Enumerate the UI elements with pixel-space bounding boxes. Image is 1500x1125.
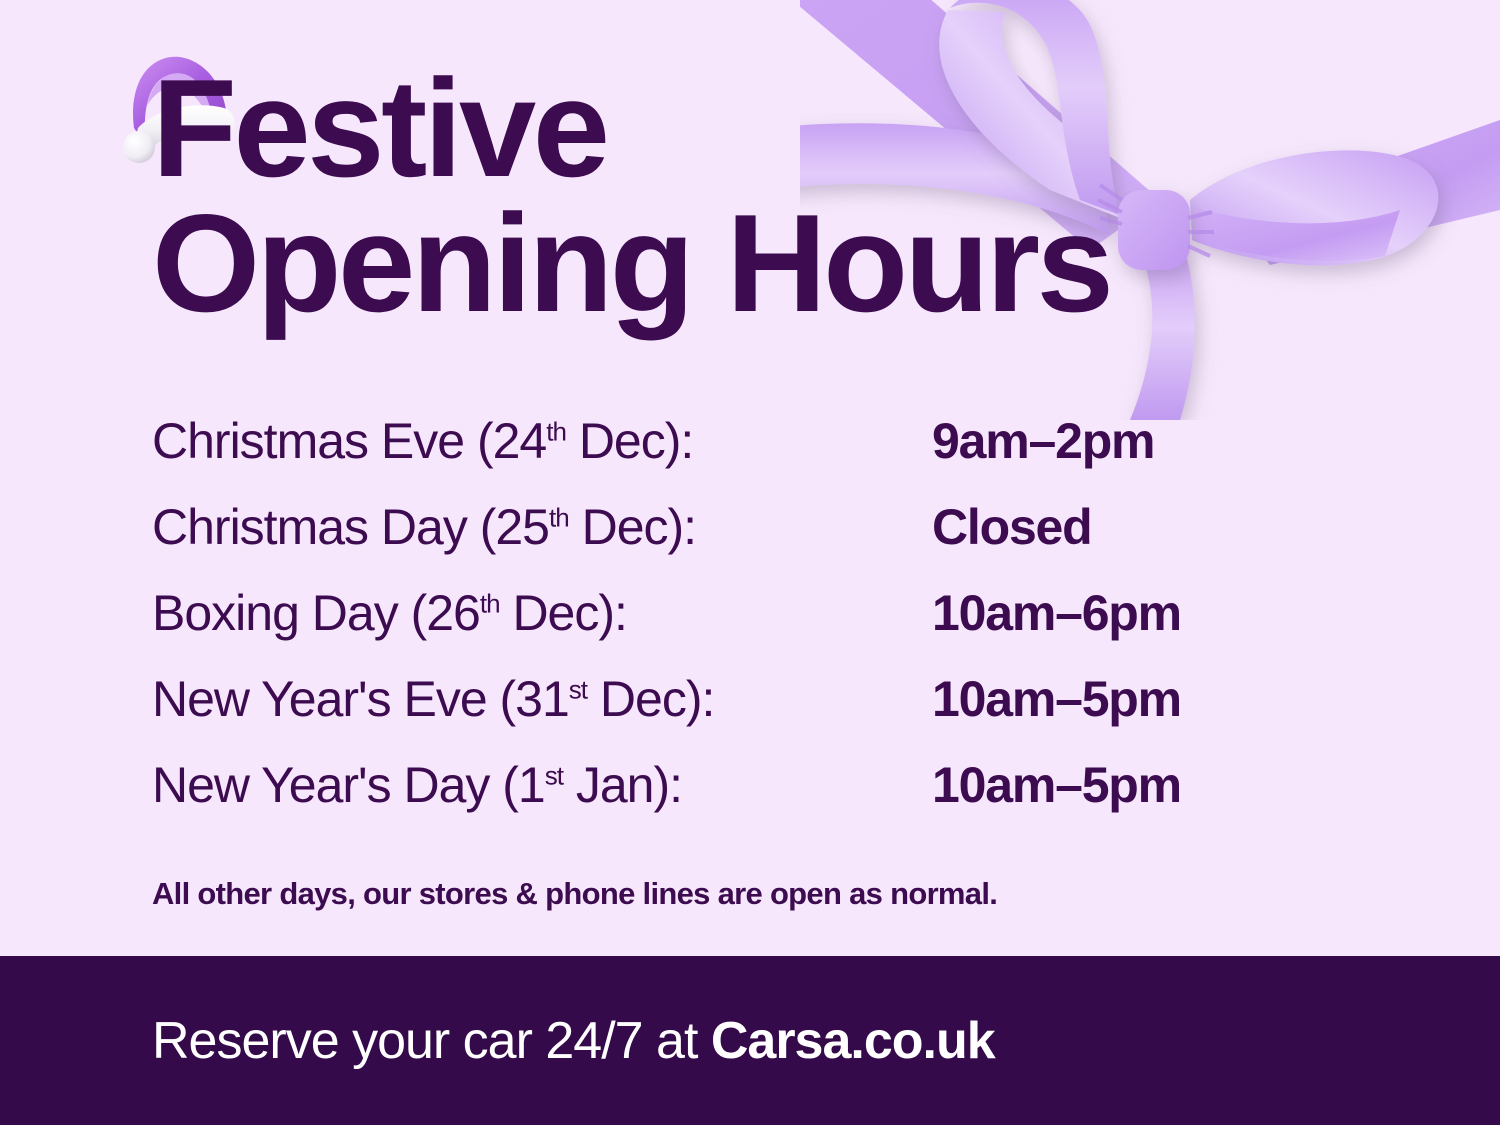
footnote-text: All other days, our stores & phone lines… [152,876,997,912]
footer-cta: Reserve your car 24/7 at Carsa.co.uk [152,1011,995,1071]
day-ordinal: st [569,674,587,704]
day-label: Boxing Day (26th Dec): [152,584,932,642]
hours-value: 10am–6pm [932,584,1282,642]
list-item: Christmas Eve (24th Dec): 9am–2pm [152,412,1282,498]
festive-opening-hours-poster: Festive Opening Hours Christmas Eve (24t… [0,0,1500,1125]
day-ordinal: th [549,502,569,532]
day-name: Christmas Day (25 [152,499,549,555]
list-item: New Year's Day (1st Jan): 10am–5pm [152,756,1282,842]
brand-name[interactable]: Carsa.co.uk [711,1012,995,1070]
day-month: Dec): [500,585,627,641]
day-name: New Year's Eve (31 [152,671,569,727]
day-label: Christmas Day (25th Dec): [152,498,932,556]
page-title: Festive Opening Hours [152,62,1282,332]
day-month: Jan): [563,757,682,813]
day-name: New Year's Day (1 [152,757,545,813]
hours-value: 10am–5pm [932,670,1282,728]
day-name: Boxing Day (26 [152,585,480,641]
hours-value: 9am–2pm [932,412,1282,470]
day-label: New Year's Eve (31st Dec): [152,670,932,728]
opening-hours-list: Christmas Eve (24th Dec): 9am–2pm Christ… [152,412,1282,842]
hours-value: Closed [932,498,1282,556]
list-item: Christmas Day (25th Dec): Closed [152,498,1282,584]
title-line-1: Festive [152,62,1282,197]
hours-value: 10am–5pm [932,756,1282,814]
day-label: New Year's Day (1st Jan): [152,756,932,814]
title-line-2: Opening Hours [152,197,1282,332]
day-label: Christmas Eve (24th Dec): [152,412,932,470]
day-month: Dec): [566,413,693,469]
day-month: Dec): [587,671,714,727]
day-ordinal: st [545,760,563,790]
day-ordinal: th [546,416,566,446]
day-ordinal: th [480,588,500,618]
footer-lead-text: Reserve your car 24/7 at [152,1012,711,1070]
footer-bar: Reserve your car 24/7 at Carsa.co.uk [0,956,1500,1125]
list-item: Boxing Day (26th Dec): 10am–6pm [152,584,1282,670]
day-month: Dec): [569,499,696,555]
day-name: Christmas Eve (24 [152,413,546,469]
list-item: New Year's Eve (31st Dec): 10am–5pm [152,670,1282,756]
